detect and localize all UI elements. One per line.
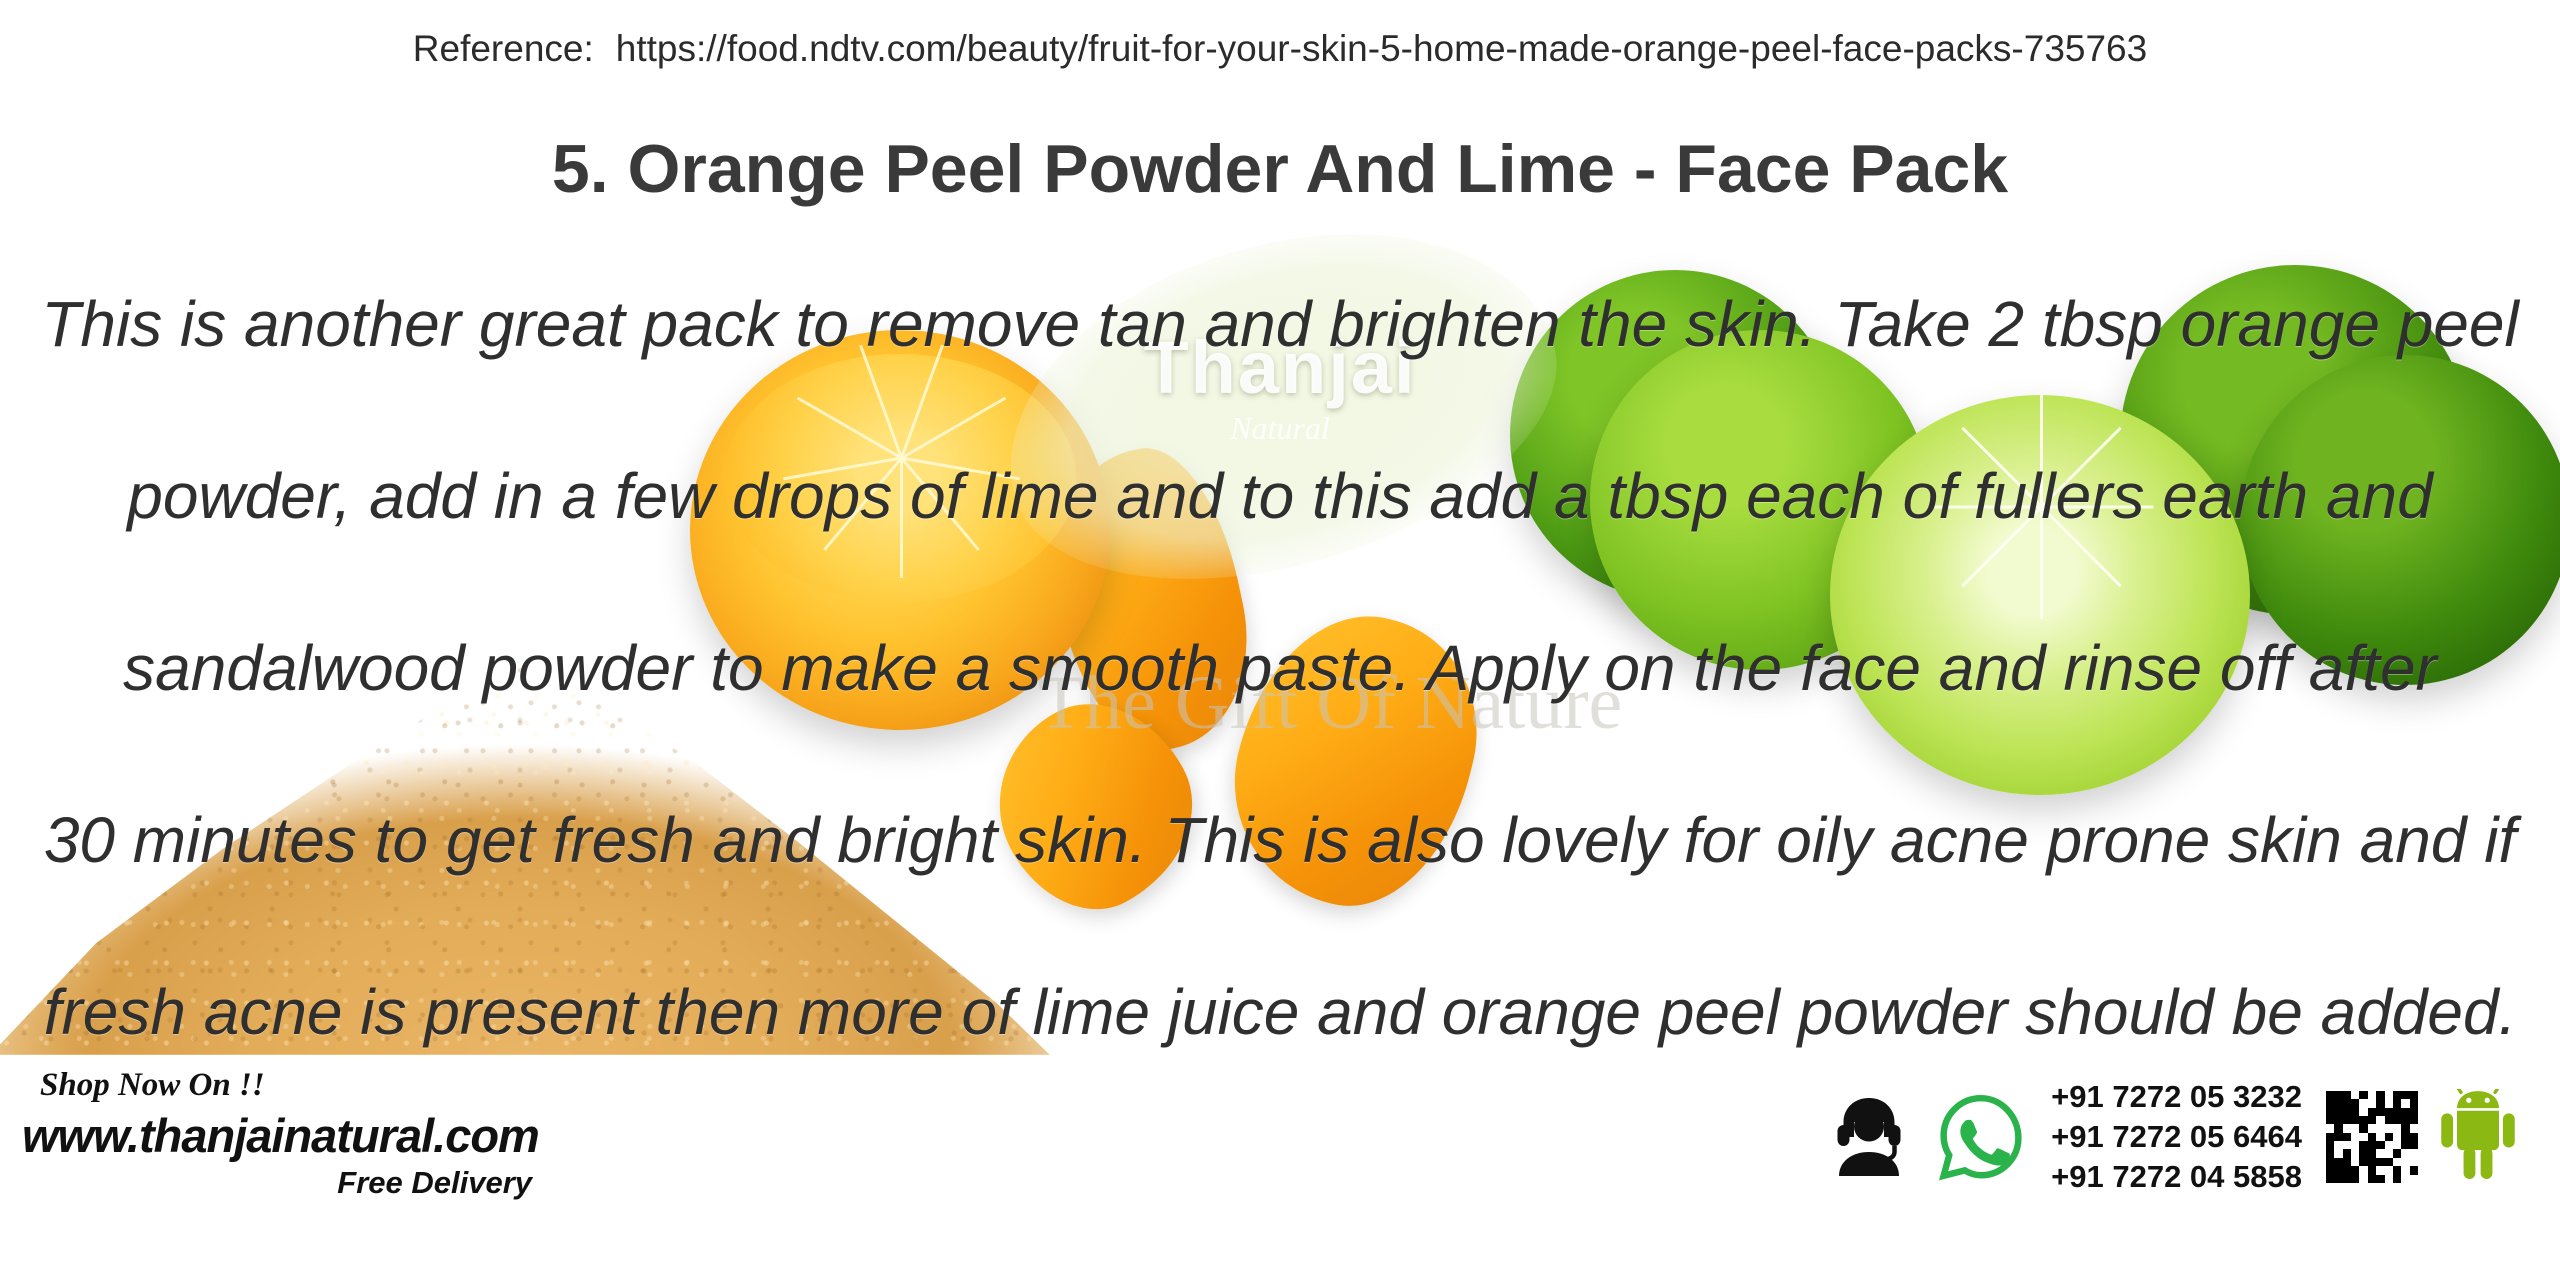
recipe-description: This is another great pack to remove tan…	[0, 238, 2560, 1098]
qr-code-icon[interactable]	[2326, 1091, 2418, 1183]
description-line: sandalwood powder to make a smooth paste…	[0, 582, 2560, 754]
page-title: 5. Orange Peel Powder And Lime - Face Pa…	[0, 130, 2560, 208]
phone-number-list: +91 7272 05 3232 +91 7272 05 6464 +91 72…	[2051, 1079, 2302, 1195]
shop-now-label: Shop Now On !!	[40, 1067, 582, 1104]
free-delivery-label: Free Delivery	[22, 1165, 532, 1201]
shop-now-block: Shop Now On !! www.thanjainatural.com Fr…	[22, 1067, 582, 1201]
whatsapp-icon[interactable]	[1935, 1091, 2027, 1183]
reference-url[interactable]: https://food.ndtv.com/beauty/fruit-for-y…	[616, 28, 2147, 69]
description-line: This is another great pack to remove tan…	[0, 238, 2560, 410]
phone-number[interactable]: +91 7272 04 5858	[2051, 1159, 2302, 1195]
contact-block: +91 7272 05 3232 +91 7272 05 6464 +91 72…	[1821, 1079, 2520, 1195]
website-link[interactable]: www.thanjainatural.com	[22, 1108, 582, 1163]
footer-bar: Shop Now On !! www.thanjainatural.com Fr…	[0, 1055, 2560, 1283]
android-robot-icon[interactable]	[2436, 1089, 2520, 1185]
phone-number[interactable]: +91 7272 05 6464	[2051, 1119, 2302, 1155]
headset-support-icon	[1821, 1089, 1917, 1185]
reference-line: Reference:https://food.ndtv.com/beauty/f…	[0, 28, 2560, 70]
description-line: 30 minutes to get fresh and bright skin.…	[0, 754, 2560, 926]
phone-number[interactable]: +91 7272 05 3232	[2051, 1079, 2302, 1115]
reference-label: Reference:	[413, 28, 594, 69]
description-line: powder, add in a few drops of lime and t…	[0, 410, 2560, 582]
